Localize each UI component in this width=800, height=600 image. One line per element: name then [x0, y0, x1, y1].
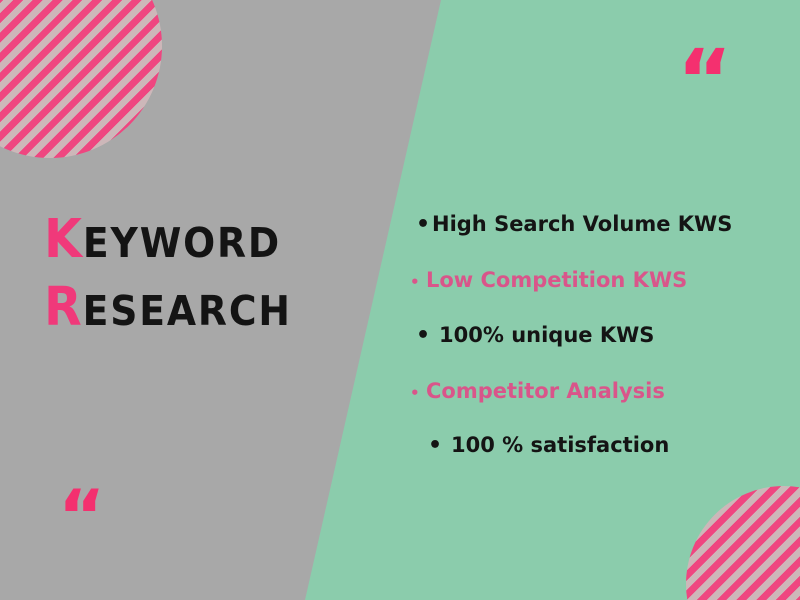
list-item-label: High Search Volume KWS — [432, 212, 732, 237]
list-item-label: Low Competition KWS — [426, 268, 687, 293]
list-item: • 100 % satisfaction — [428, 433, 790, 459]
list-item: • Low Competition KWS — [410, 268, 790, 293]
list-item: • High Search Volume KWS — [416, 212, 790, 238]
bullet-dot-icon: • — [410, 385, 426, 403]
page-title-line-2: RESEARCH — [44, 280, 320, 334]
page-title-line-1-rest: EYWORD — [83, 219, 281, 267]
bullet-dot-icon: • — [410, 274, 426, 292]
page-title: KEYWORD RESEARCH — [44, 212, 344, 335]
page-title-line-1: KEYWORD — [44, 212, 320, 266]
bullet-dot-icon: • — [428, 433, 444, 459]
page-title-line-1-initial: K — [44, 208, 83, 270]
quote-mark-top-right-icon: “ — [677, 38, 730, 122]
list-item: • Competitor Analysis — [410, 379, 790, 404]
list-item: • 100% unique KWS — [416, 323, 790, 349]
page-title-line-2-rest: ESEARCH — [83, 287, 292, 335]
feature-bullet-list: • High Search Volume KWS • Low Competiti… — [410, 212, 790, 459]
bullet-dot-icon: • — [416, 323, 432, 349]
quote-mark-bottom-left-icon: “ — [58, 480, 103, 552]
list-item-label: Competitor Analysis — [426, 379, 665, 404]
bullet-dot-icon: • — [416, 212, 432, 238]
page-title-line-2-initial: R — [44, 276, 83, 338]
list-item-label: 100% unique KWS — [432, 323, 654, 348]
list-item-label: 100 % satisfaction — [444, 433, 669, 458]
keyword-research-poster: “ “ KEYWORD RESEARCH • High Search Volum… — [0, 0, 800, 600]
